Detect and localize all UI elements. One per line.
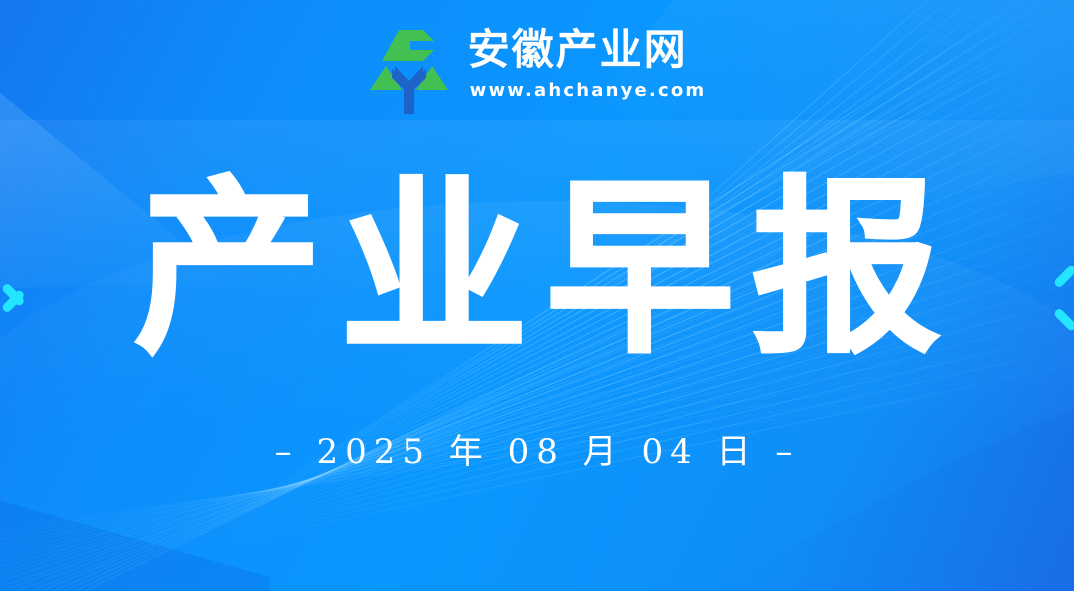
ahchanye-tree-logo-icon	[368, 28, 450, 114]
logo-text-block: 安徽产业网 www.ahchanye.com	[468, 28, 707, 103]
logo-lockup: 安徽产业网 www.ahchanye.com	[0, 28, 1074, 114]
brand-website-url: www.ahchanye.com	[470, 78, 707, 103]
logo-arrow-ribbon	[382, 30, 434, 61]
poster-banner: 安徽产业网 www.ahchanye.com 产业早报 – 2025 年 08 …	[0, 0, 1074, 591]
poster-dateline: – 2025 年 08 月 04 日 –	[0, 424, 1074, 473]
decor-wedge-bottom-right	[594, 391, 1074, 591]
tree-logo-svg	[368, 28, 450, 114]
poster-headline: 产业早报	[0, 176, 1074, 364]
brand-name-cn: 安徽产业网	[468, 28, 688, 72]
